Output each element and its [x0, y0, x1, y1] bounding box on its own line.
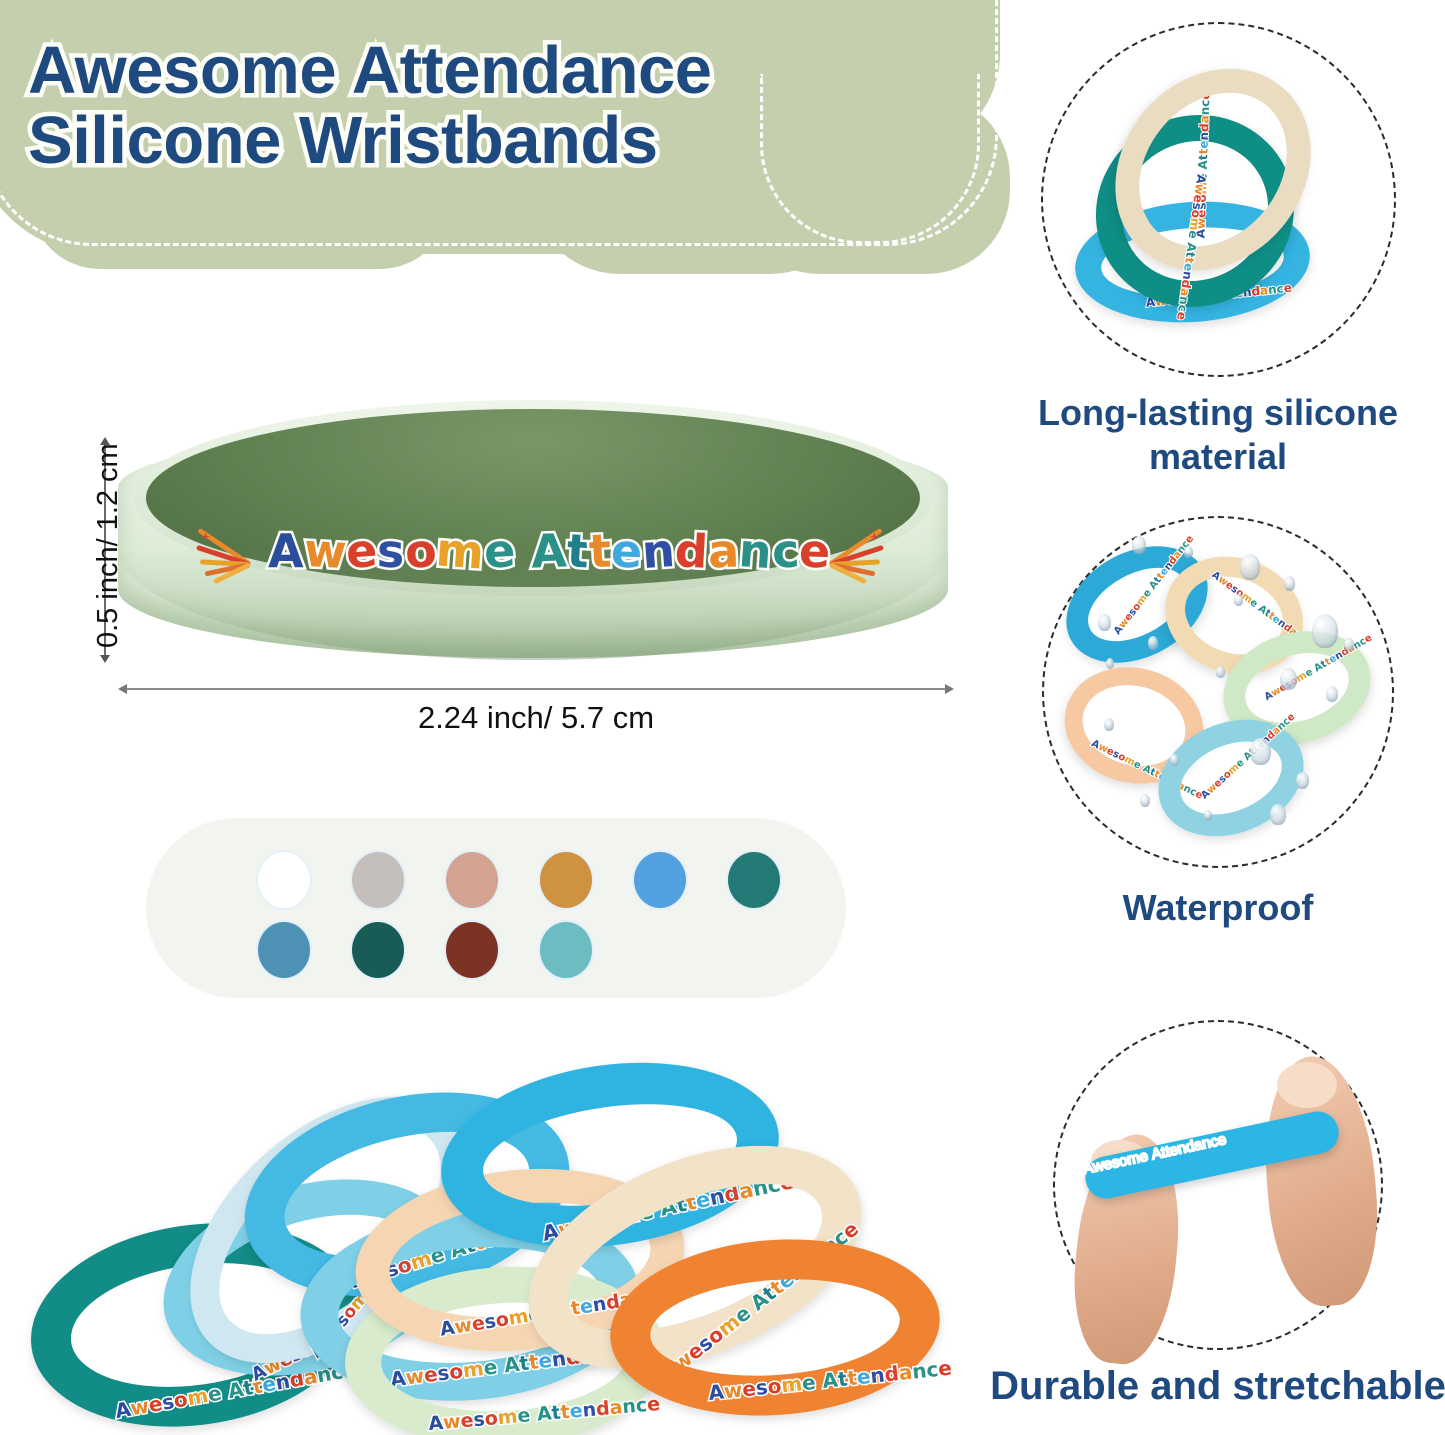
water-droplet-icon [1170, 754, 1179, 766]
water-droplet-icon [1250, 738, 1271, 765]
hero-letter: m [435, 526, 486, 575]
hero-letter [515, 528, 531, 574]
color-swatch-white[interactable] [258, 852, 310, 908]
hero-band-logo: Awesome Attendance [268, 528, 808, 606]
hero-letter: o [404, 527, 437, 574]
water-droplet-icon [1296, 772, 1309, 789]
color-swatch-salmon[interactable] [446, 852, 498, 908]
color-swatch-turquoise[interactable] [540, 922, 592, 978]
hero-letter: t [588, 527, 612, 574]
feature-1-caption-line-1: Long-lasting silicone [1003, 391, 1433, 435]
feature-1-circle: Awesome AttendanceAwesome AttendanceAwes… [1041, 22, 1396, 377]
wristband-ring-text: Awesome Attendance [428, 1393, 661, 1435]
hero-letter: e [798, 527, 831, 574]
page-title: Awesome Attendance Silicone Wristbands [28, 36, 988, 175]
color-swatch-steel-blue[interactable] [258, 922, 310, 978]
water-droplet-icon [1240, 554, 1260, 580]
hero-wristband: Awesome Attendance [118, 398, 948, 666]
title-line-1: Awesome Attendance [28, 36, 988, 106]
feature-long-lasting: Awesome AttendanceAwesome AttendanceAwes… [1003, 22, 1433, 479]
water-droplet-icon [1284, 576, 1295, 591]
infographic-canvas: Awesome Attendance Silicone Wristbands A… [0, 0, 1445, 1435]
water-droplet-icon [1132, 536, 1146, 554]
starburst-left-icon [180, 530, 250, 600]
hero-letter: e [483, 527, 517, 575]
water-droplet-icon [1270, 804, 1286, 825]
thumbnail [1277, 1062, 1337, 1108]
height-dimension-label-wrap: 0.5 inch/ 1.2 cm [92, 648, 297, 681]
feature-3-caption: Durable and stretchable [963, 1362, 1445, 1411]
water-droplet-icon [1148, 636, 1158, 650]
height-dimension-label: 0.5 inch/ 1.2 cm [92, 443, 125, 648]
feature-1-caption-line-2: material [1003, 435, 1433, 479]
starburst-right-icon [830, 530, 900, 600]
color-swatch-ochre[interactable] [540, 852, 592, 908]
hero-letter: w [302, 527, 347, 575]
hero-band-text: Awesome Attendance [268, 528, 808, 574]
water-droplet-icon [1204, 810, 1212, 821]
feature-3-circle: Awesome Attendance [1053, 1020, 1383, 1350]
color-swatch-dark-teal[interactable] [352, 922, 404, 978]
feature-durable-stretchable: Awesome Attendance Durable and stretchab… [1003, 1020, 1433, 1350]
hero-letter: d [674, 527, 709, 575]
water-droplet-icon [1216, 666, 1225, 678]
hero-letter: e [345, 527, 379, 575]
water-droplet-icon [1104, 718, 1114, 731]
water-droplet-icon [1326, 686, 1338, 702]
water-droplet-icon [1280, 668, 1297, 690]
water-droplet-icon [1106, 658, 1114, 669]
feature-2-circle: Awesome AttendanceAwesome AttendanceAwes… [1042, 516, 1394, 868]
blob-lobe-6 [30, 199, 450, 269]
water-droplet-icon [1344, 638, 1354, 651]
color-swatch-brick-red[interactable] [446, 922, 498, 978]
hero-letter: A [531, 527, 568, 574]
hero-letter: t [566, 527, 590, 574]
feature-1-caption: Long-lasting silicone material [1003, 391, 1433, 479]
hero-letter: a [707, 527, 740, 574]
color-swatch-light-gray[interactable] [352, 852, 404, 908]
color-swatch-panel [146, 818, 846, 998]
width-dimension-label: 2.24 inch/ 5.7 cm [126, 700, 946, 736]
feature-waterproof: Awesome AttendanceAwesome AttendanceAwes… [1003, 516, 1433, 930]
hero-letter: c [771, 527, 801, 574]
color-swatch-sky-blue[interactable] [634, 852, 686, 908]
feature-2-caption: Waterproof [1003, 886, 1433, 930]
water-droplet-icon [1184, 546, 1193, 558]
hero-letter: s [377, 528, 406, 575]
water-droplet-icon [1098, 614, 1111, 631]
wristband-pile-photo: Awesome AttendanceAwesome AttendanceAwes… [10, 1035, 970, 1435]
water-droplet-icon [1234, 594, 1243, 606]
hero-letter: e [610, 527, 643, 574]
wristband-ring-text: Awesome Attendance [707, 1356, 953, 1405]
hero-letter: n [641, 527, 677, 575]
water-droplet-icon [1140, 794, 1150, 807]
wristband-ring-text: Awesome Attendance [1199, 711, 1297, 801]
water-droplet-icon [1312, 614, 1338, 648]
hero-letter: n [737, 527, 773, 575]
color-swatch-teal[interactable] [728, 852, 780, 908]
width-dimension-line [126, 688, 946, 690]
title-line-2: Silicone Wristbands [28, 106, 988, 176]
hero-letter: A [268, 528, 304, 574]
